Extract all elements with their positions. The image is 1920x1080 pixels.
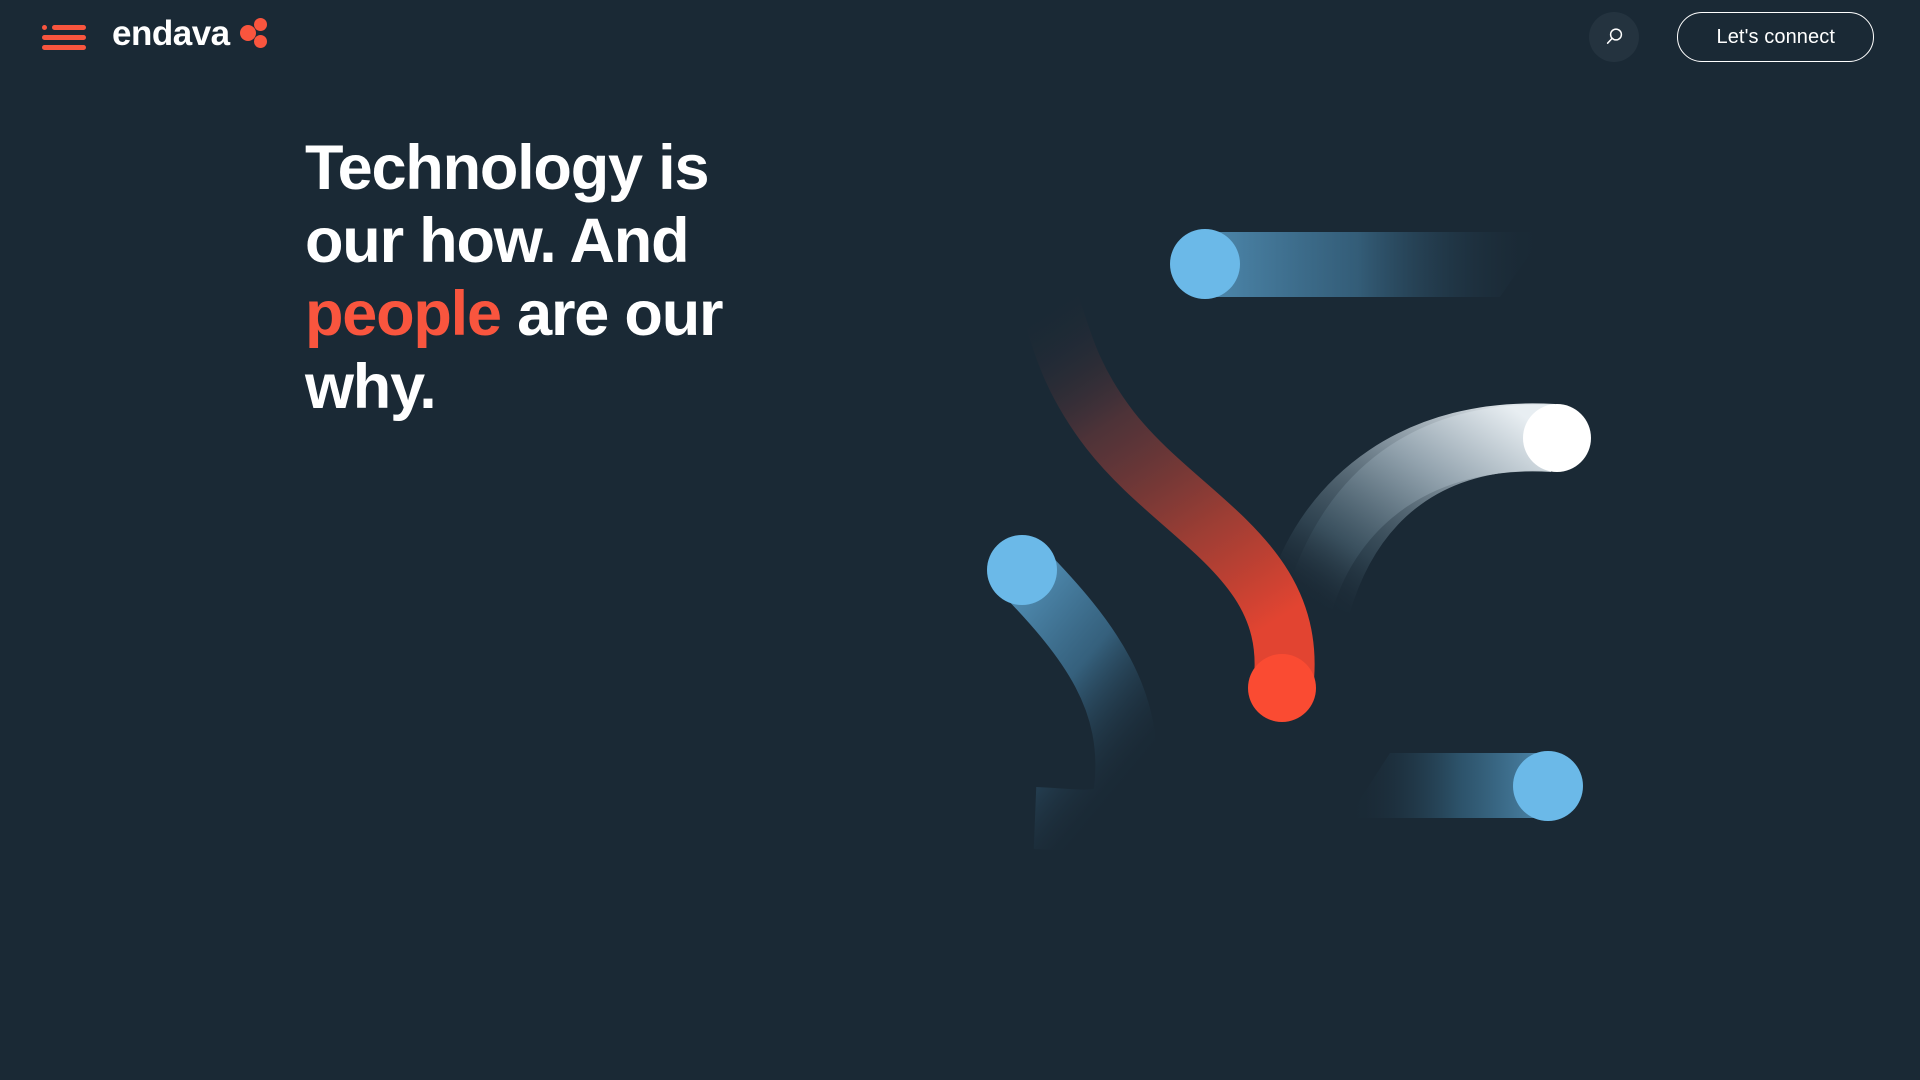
blue-dot-bottom-group bbox=[1348, 751, 1583, 821]
search-icon bbox=[1602, 25, 1626, 49]
blue-dot-left-trail bbox=[1022, 570, 1126, 821]
hero-graphic bbox=[0, 0, 1920, 1080]
menu-bar-middle bbox=[42, 35, 86, 40]
white-dot bbox=[1523, 404, 1591, 472]
site-header: endava Let's connect bbox=[0, 0, 1920, 80]
endava-logo[interactable]: endava bbox=[112, 16, 270, 51]
search-button[interactable] bbox=[1589, 12, 1639, 62]
white-dot-group bbox=[1300, 404, 1591, 604]
blue-dot-left bbox=[987, 535, 1057, 605]
blue-dot-top-trail bbox=[1205, 232, 1545, 297]
lets-connect-button[interactable]: Let's connect bbox=[1677, 12, 1874, 62]
blue-dot-left-group bbox=[987, 535, 1126, 821]
hero-page: endava Let's connect Technology is our bbox=[0, 0, 1920, 1080]
hamburger-menu-icon[interactable] bbox=[42, 22, 86, 54]
logo-wordmark: endava bbox=[112, 16, 230, 51]
red-dot bbox=[1248, 654, 1316, 722]
logo-dot-large bbox=[240, 25, 256, 41]
header-actions: Let's connect bbox=[1589, 12, 1874, 62]
logo-dot-lower bbox=[254, 35, 267, 48]
logo-dot-upper bbox=[254, 18, 267, 31]
blue-dot-top-group bbox=[1170, 229, 1545, 299]
menu-bar-top bbox=[52, 25, 86, 30]
menu-bar-bottom bbox=[42, 45, 86, 50]
blue-dot-bottom bbox=[1513, 751, 1583, 821]
menu-bar-dot bbox=[42, 25, 47, 30]
endava-dots-mark-icon bbox=[240, 18, 270, 50]
blue-dot-top bbox=[1170, 229, 1240, 299]
